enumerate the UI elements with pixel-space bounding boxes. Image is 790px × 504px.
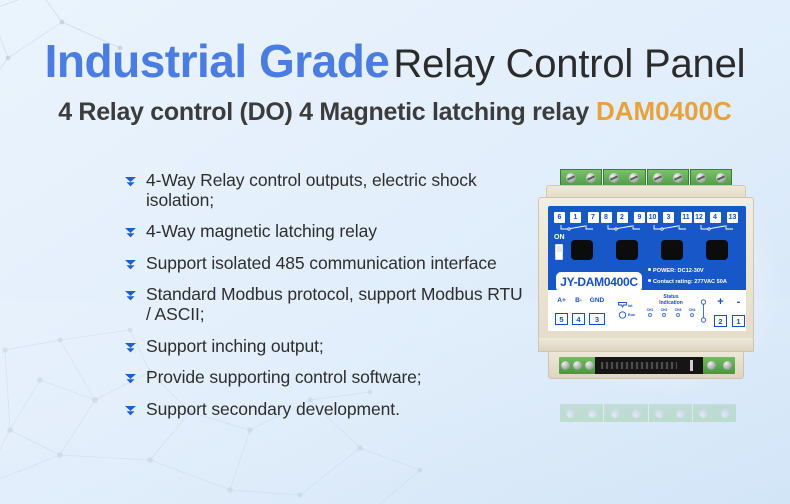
feature-text: 4-Way magnetic latching relay: [146, 221, 377, 242]
terminal-number: 7: [588, 212, 599, 223]
status-title-line2: Indication: [643, 301, 699, 307]
relay-channel-row: 6 1 7 8 2 9 10 3 11 12: [554, 212, 740, 230]
feature-list: 4-Way Relay control outputs, electric sh…: [124, 170, 524, 430]
relay-module-1: [571, 240, 593, 260]
relay-contact-symbol: [605, 224, 643, 231]
terminal-number: 3: [589, 313, 605, 325]
spec-power: POWER: DC12-30V: [648, 268, 744, 275]
terminal-label-minus: -: [732, 297, 745, 308]
spec-contact-rating-text: Contact rating: 277VAC 50A: [653, 279, 727, 285]
reflection-block: [560, 404, 603, 422]
double-chevron-down-icon: [124, 336, 146, 355]
relay-module-3: [661, 240, 683, 260]
bottom-terminal-block: [559, 357, 735, 374]
list-item: Support secondary development.: [124, 399, 524, 420]
terminal-number: 11: [681, 212, 692, 223]
int-indicator-icon: [618, 302, 627, 309]
double-chevron-down-icon: [124, 170, 146, 189]
status-led-ch3: [676, 313, 680, 317]
status-led-ch1: [648, 313, 652, 317]
list-item: Standard Modbus protocol, support Modbus…: [124, 284, 524, 324]
relay-channel: 10 3 11: [647, 212, 692, 230]
terminal-number: 12: [694, 212, 705, 223]
terminal-number: 3: [663, 212, 674, 223]
indicator-label-run: Run: [628, 313, 635, 317]
mounting-marks: [700, 299, 707, 328]
relay-channel: 8 2 9: [601, 212, 646, 230]
list-item: Support inching output;: [124, 336, 524, 357]
screw-icon: [723, 361, 732, 370]
model-badge-text: JY-DAM0400C: [560, 275, 637, 289]
screw-icon: [585, 361, 594, 370]
status-channel-label: CH4: [689, 308, 696, 312]
relay-contact-symbol: [698, 224, 736, 231]
double-chevron-down-icon: [124, 253, 146, 272]
double-chevron-down-icon: [124, 284, 146, 303]
spec-power-text: POWER: DC12-30V: [653, 268, 704, 274]
relay-channel: 12 4 13: [694, 212, 739, 230]
terminal-label-b: B-: [572, 297, 585, 304]
status-channel-label: CH1: [647, 308, 654, 312]
terminal-number: 4: [572, 313, 585, 325]
status-channel-label: CH2: [661, 308, 668, 312]
screw-icon: [561, 361, 570, 370]
indicator-group: Int Run: [618, 302, 635, 319]
terminal-green-right: [703, 357, 735, 374]
device-lower-panel: A+ B- GND 5 4 3 Int Run: [548, 290, 746, 331]
terminal-label-a: A+: [555, 297, 568, 304]
status-led-ch2: [662, 313, 666, 317]
device-product-image: 6 1 7 8 2 9 10 3 11 12: [524, 160, 790, 440]
screw-icon: [691, 170, 711, 186]
model-name: DAM0400C: [596, 96, 732, 126]
status-indication-group: Status Indication CH1 CH2 CH3 CH4: [643, 295, 699, 317]
terminal-number: 2: [617, 212, 628, 223]
terminal-number: 1: [570, 212, 581, 223]
case-bottom-shelf: [538, 338, 754, 352]
dip-switch[interactable]: [555, 244, 563, 260]
power-terminal-group: + - 2 1: [714, 297, 745, 327]
terminal-number: 2: [714, 315, 727, 327]
screw-icon: [561, 170, 581, 186]
title-rest: Relay Control Panel: [393, 42, 745, 86]
feature-text: Support secondary development.: [146, 399, 400, 420]
list-item: 4-Way magnetic latching relay: [124, 221, 524, 242]
indicator-label-int: Int: [628, 304, 632, 308]
device-reflection: [560, 382, 736, 422]
terminal-number: 13: [727, 212, 738, 223]
header: Industrial GradeRelay Control Panel 4 Re…: [0, 38, 790, 125]
screw-icon: [581, 170, 601, 186]
screw-icon: [573, 361, 582, 370]
feature-text: Support isolated 485 communication inter…: [146, 253, 497, 274]
double-chevron-down-icon: [124, 367, 146, 386]
relay-channel: 6 1 7: [554, 212, 599, 230]
terminal-number: 9: [634, 212, 645, 223]
device-case: 6 1 7 8 2 9 10 3 11 12: [538, 197, 754, 339]
screw-icon: [648, 170, 668, 186]
run-indicator-icon: [618, 311, 627, 319]
terminal-number: 10: [647, 212, 658, 223]
feature-text: Standard Modbus protocol, support Modbus…: [146, 284, 524, 324]
reflection-block: [693, 404, 736, 422]
feature-text: Support inching output;: [146, 336, 324, 357]
terminal-green-left: [559, 357, 595, 374]
screw-icon: [707, 361, 716, 370]
screw-icon: [624, 170, 644, 186]
double-chevron-down-icon: [124, 399, 146, 418]
page-subtitle: 4 Relay control (DO) 4 Magnetic latching…: [0, 98, 790, 125]
screw-icon: [604, 170, 624, 186]
reflection-block: [649, 404, 692, 422]
terminal-connector-strip: [595, 357, 703, 374]
status-channel-label: CH3: [675, 308, 682, 312]
spec-contact-rating: Contact rating: 277VAC 50A: [648, 279, 744, 286]
terminal-number: 4: [710, 212, 721, 223]
relay-contact-symbol: [651, 224, 689, 231]
list-item: Provide supporting control software;: [124, 367, 524, 388]
screw-icon: [711, 170, 731, 186]
terminal-number: 1: [732, 315, 745, 327]
terminal-number: 6: [554, 212, 565, 223]
relay-module-4: [706, 240, 728, 260]
terminal-label-gnd: GND: [589, 297, 605, 304]
status-led-ch4: [690, 313, 694, 317]
terminal-number: 8: [601, 212, 612, 223]
reflection-block: [604, 404, 647, 422]
list-item: 4-Way Relay control outputs, electric sh…: [124, 170, 524, 210]
relay-module-2: [616, 240, 638, 260]
page-title: Industrial GradeRelay Control Panel: [0, 38, 790, 84]
relay-contact-symbol: [558, 224, 596, 231]
terminal-number: 5: [555, 313, 568, 325]
on-label: ON: [554, 234, 565, 241]
feature-text: 4-Way Relay control outputs, electric sh…: [146, 170, 524, 210]
subtitle-text: 4 Relay control (DO) 4 Magnetic latching…: [58, 98, 589, 126]
double-chevron-down-icon: [124, 221, 146, 240]
list-item: Support isolated 485 communication inter…: [124, 253, 524, 274]
terminal-label-plus: +: [714, 297, 727, 308]
feature-text: Provide supporting control software;: [146, 367, 422, 388]
screw-icon: [668, 170, 688, 186]
model-badge: JY-DAM0400C: [556, 272, 642, 292]
comm-terminal-group: A+ B- GND 5 4 3: [555, 297, 605, 325]
case-base: [548, 351, 744, 379]
title-highlight: Industrial Grade: [45, 35, 390, 87]
